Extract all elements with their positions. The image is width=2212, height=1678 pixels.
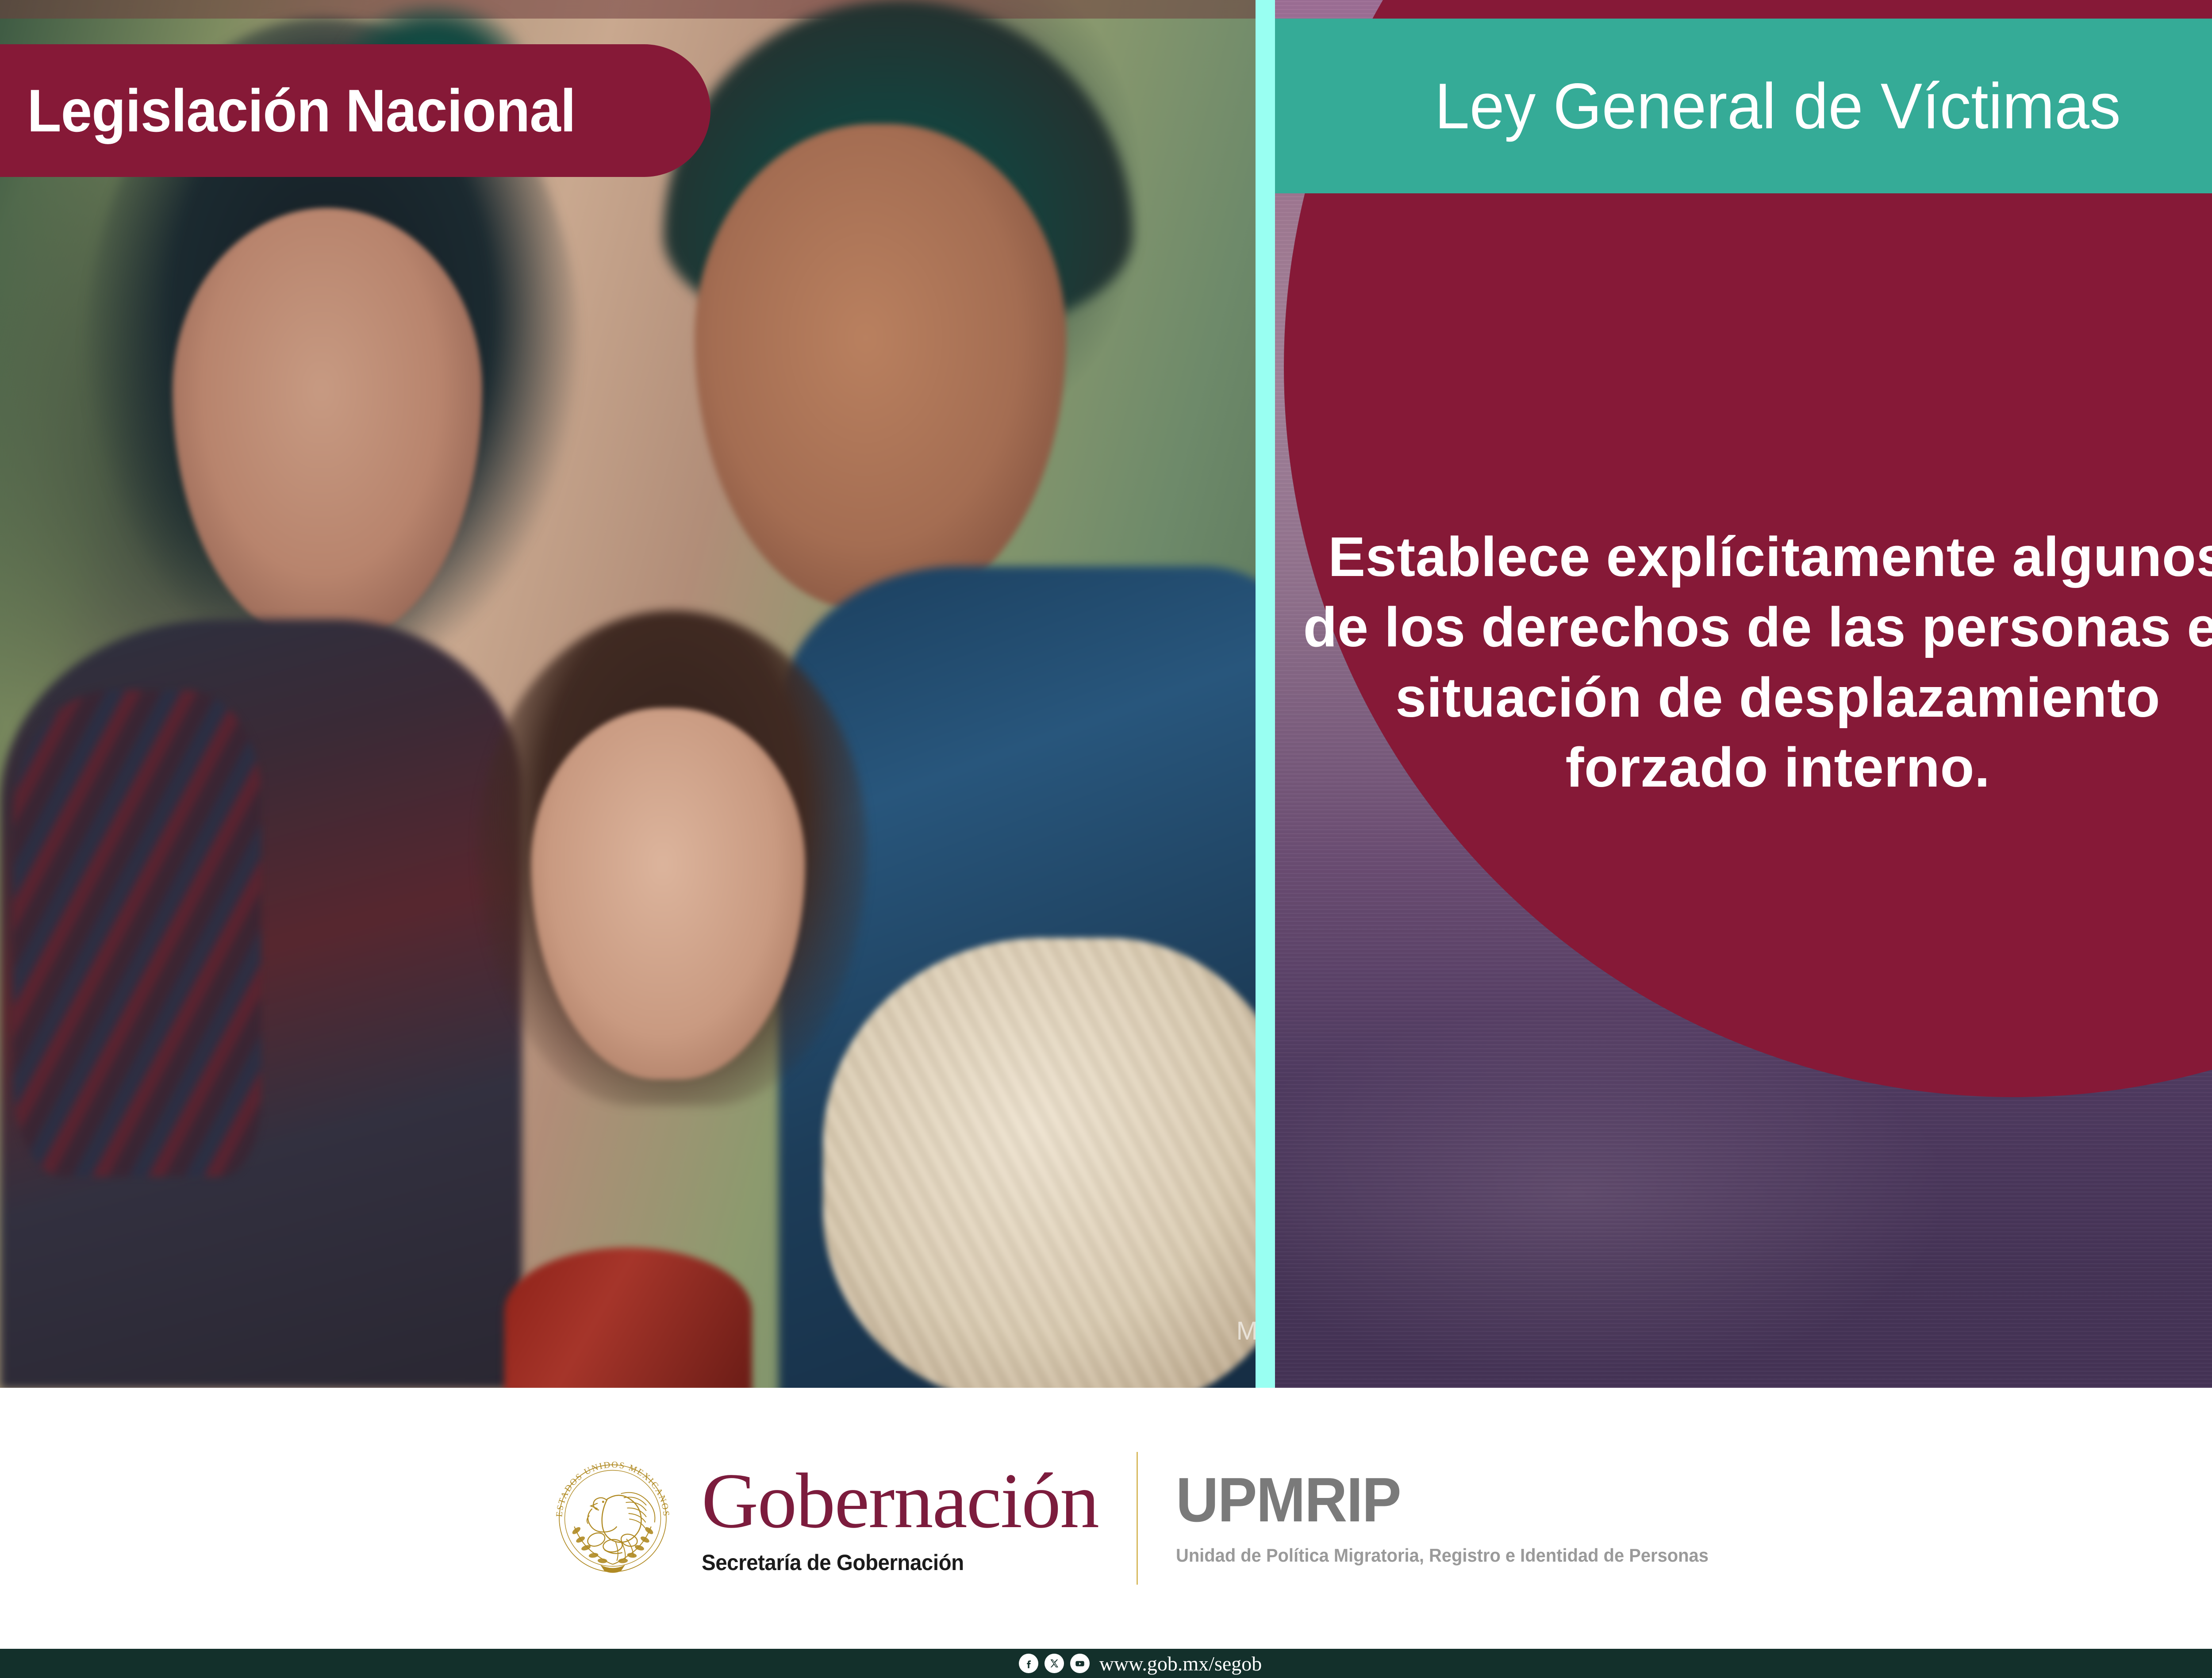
svg-text:ESTADOS UNIDOS MEXICANOS: ESTADOS UNIDOS MEXICANOS <box>554 1460 671 1517</box>
gobernacion-subtitle: Secretaría de Gobernación <box>702 1550 1079 1575</box>
upmrip-logotype: UPMRIP Unidad de Política Migratoria, Re… <box>1176 1469 1736 1568</box>
page-title: Ley General de Víctimas <box>1435 74 2121 138</box>
family-photo: M <box>0 0 1256 1388</box>
photo-paper-bag <box>823 938 1256 1388</box>
x-twitter-icon[interactable] <box>1045 1654 1064 1673</box>
legislacion-nacional-badge: Legislación Nacional <box>0 44 710 177</box>
mexican-coat-of-arms-icon: ESTADOS UNIDOS MEXICANOS <box>544 1450 681 1587</box>
youtube-icon[interactable] <box>1070 1654 1090 1673</box>
photo-girl-collar <box>504 1248 752 1388</box>
cyan-divider-strip <box>1256 0 1275 1388</box>
logo-divider <box>1137 1452 1138 1585</box>
social-links <box>1019 1654 1090 1673</box>
photo-mother-scarf <box>13 690 261 1177</box>
upmrip-subtitle: Unidad de Política Migratoria, Registro … <box>1176 1543 1709 1568</box>
description-block: Establece explícitamente algunos de los … <box>1275 522 2212 803</box>
footer-logos: ESTADOS UNIDOS MEXICANOS <box>0 1388 2212 1649</box>
teal-title-banner: Ley General de Víctimas <box>1275 19 2212 193</box>
website-url: www.gob.mx/segob <box>1099 1652 1262 1675</box>
gobernacion-word: Gobernación <box>702 1461 1098 1540</box>
description-text: Establece explícitamente algunos de los … <box>1302 522 2212 803</box>
photo-watermark: M <box>1237 1316 1256 1346</box>
upmrip-word: UPMRIP <box>1176 1469 1703 1532</box>
gobernacion-logotype: Gobernación Secretaría de Gobernación <box>702 1461 1098 1575</box>
footer-inner: ESTADOS UNIDOS MEXICANOS <box>544 1450 1737 1587</box>
badge-label: Legislación Nacional <box>0 76 576 145</box>
photo-father-face <box>695 124 1066 611</box>
facebook-icon[interactable] <box>1019 1654 1038 1673</box>
bottom-bar: www.gob.mx/segob <box>0 1649 2212 1678</box>
poster-canvas: M Legislación Nacional Ley General de Ví… <box>0 0 2212 1678</box>
hero-section: M Legislación Nacional Ley General de Ví… <box>0 0 2212 1388</box>
